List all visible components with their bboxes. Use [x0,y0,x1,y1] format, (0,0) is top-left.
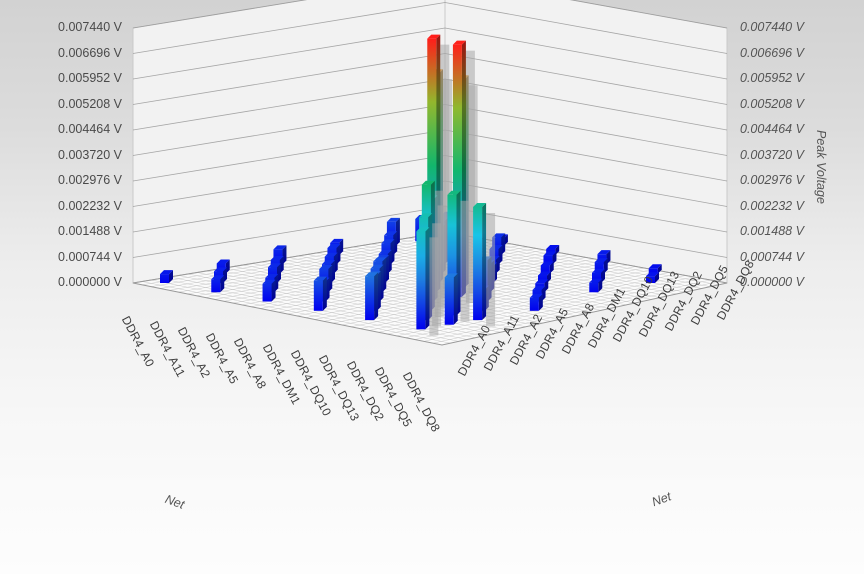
right-voltage-axis: 0.007440 V0.006696 V0.005952 V0.005208 V… [740,0,850,574]
left-voltage-tick: 0.002232 V [58,200,122,212]
bar [365,272,378,320]
left-voltage-tick: 0.005952 V [58,72,122,84]
left-voltage-tick: 0.001488 V [58,225,122,237]
right-voltage-tick: 0.001488 V [740,225,804,237]
left-voltage-tick: 0.003720 V [58,149,122,161]
right-voltage-tick: 0.003720 V [740,149,804,161]
right-voltage-tick: 0.002976 V [740,174,804,186]
bar [416,227,438,335]
bar [263,280,276,302]
right-voltage-tick: 0.004464 V [740,123,804,135]
bar [314,277,327,311]
left-voltage-tick: 0.004464 V [58,123,122,135]
left-voltage-tick: 0.000744 V [58,251,122,263]
left-voltage-tick: 0.006696 V [58,47,122,59]
peak-voltage-axis-title: Peak Voltage [814,130,828,204]
left-voltage-tick: 0.002976 V [58,174,122,186]
right-voltage-tick: 0.005952 V [740,72,804,84]
right-voltage-tick: 0.005208 V [740,98,804,110]
left-voltage-tick: 0.000000 V [58,276,122,288]
right-voltage-tick: 0.002232 V [740,200,804,212]
peak-voltage-3d-bar-chart: 0.007440 V0.006696 V0.005952 V0.005208 V… [0,0,864,574]
left-voltage-tick: 0.007440 V [58,21,122,33]
bar [211,275,224,292]
bar [530,294,543,311]
right-voltage-tick: 0.007440 V [740,21,804,33]
right-voltage-tick: 0.006696 V [740,47,804,59]
bar [473,203,495,326]
left-voltage-axis: 0.007440 V0.006696 V0.005952 V0.005208 V… [0,0,122,574]
bar [445,273,458,324]
left-voltage-tick: 0.005208 V [58,98,122,110]
